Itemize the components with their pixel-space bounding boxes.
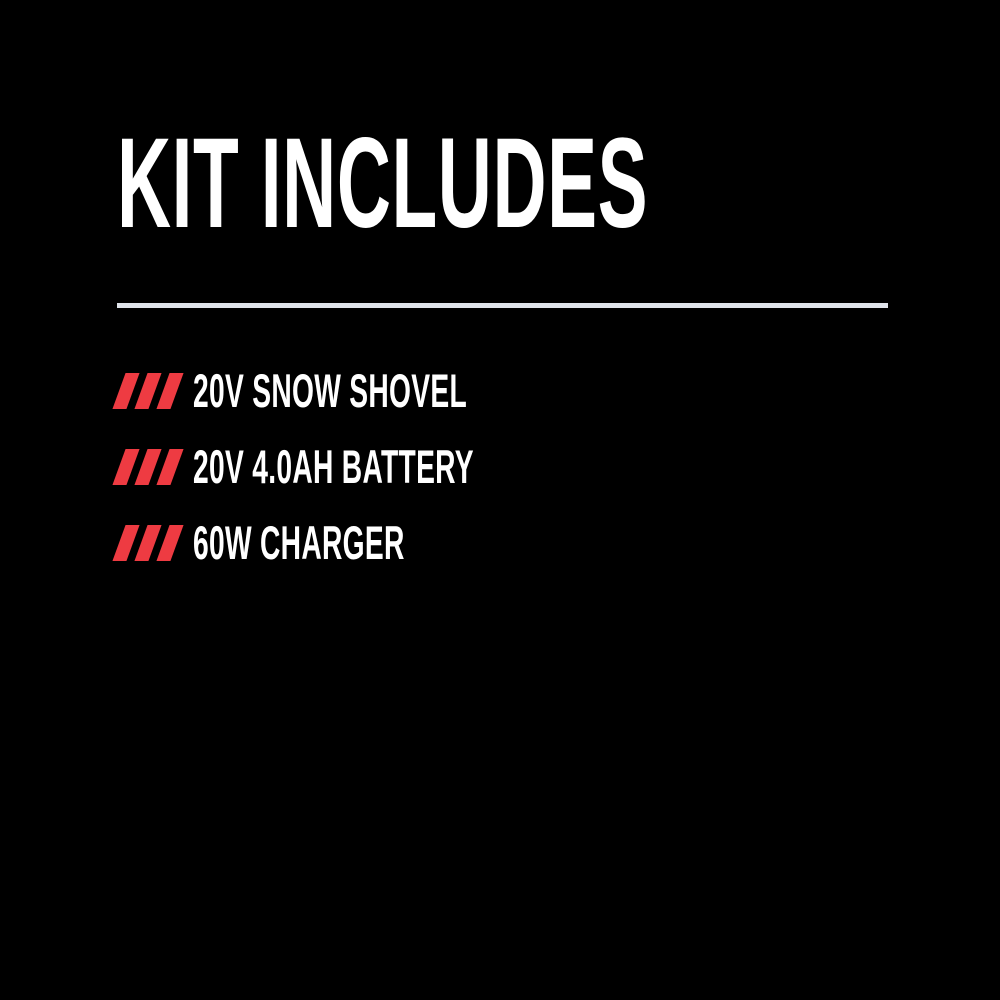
list-item-label: 20V 4.0AH BATTERY (193, 442, 474, 492)
list-item-label: 60W CHARGER (193, 518, 405, 568)
triple-slash-icon (117, 449, 183, 485)
list-item-label-container: 20V SNOW SHOVEL (193, 366, 650, 416)
page-title-container: KIT INCLUDES (117, 126, 1000, 242)
list-item-label: 20V SNOW SHOVEL (193, 366, 467, 416)
list-item: 20V SNOW SHOVEL (117, 366, 661, 442)
list-item-label-container: 20V 4.0AH BATTERY (193, 442, 661, 492)
list-item: 60W CHARGER (117, 518, 661, 594)
triple-slash-icon (117, 373, 183, 409)
page-title: KIT INCLUDES (117, 126, 648, 242)
list-item: 20V 4.0AH BATTERY (117, 442, 661, 518)
list-item-label-container: 60W CHARGER (193, 518, 546, 568)
kit-includes-poster: KIT INCLUDES 20V SNOW SHOVEL 20V 4.0AH B… (0, 0, 1000, 1000)
triple-slash-icon (117, 525, 183, 561)
kit-includes-list: 20V SNOW SHOVEL 20V 4.0AH BATTERY 60W CH… (117, 366, 661, 594)
title-divider (117, 303, 888, 308)
